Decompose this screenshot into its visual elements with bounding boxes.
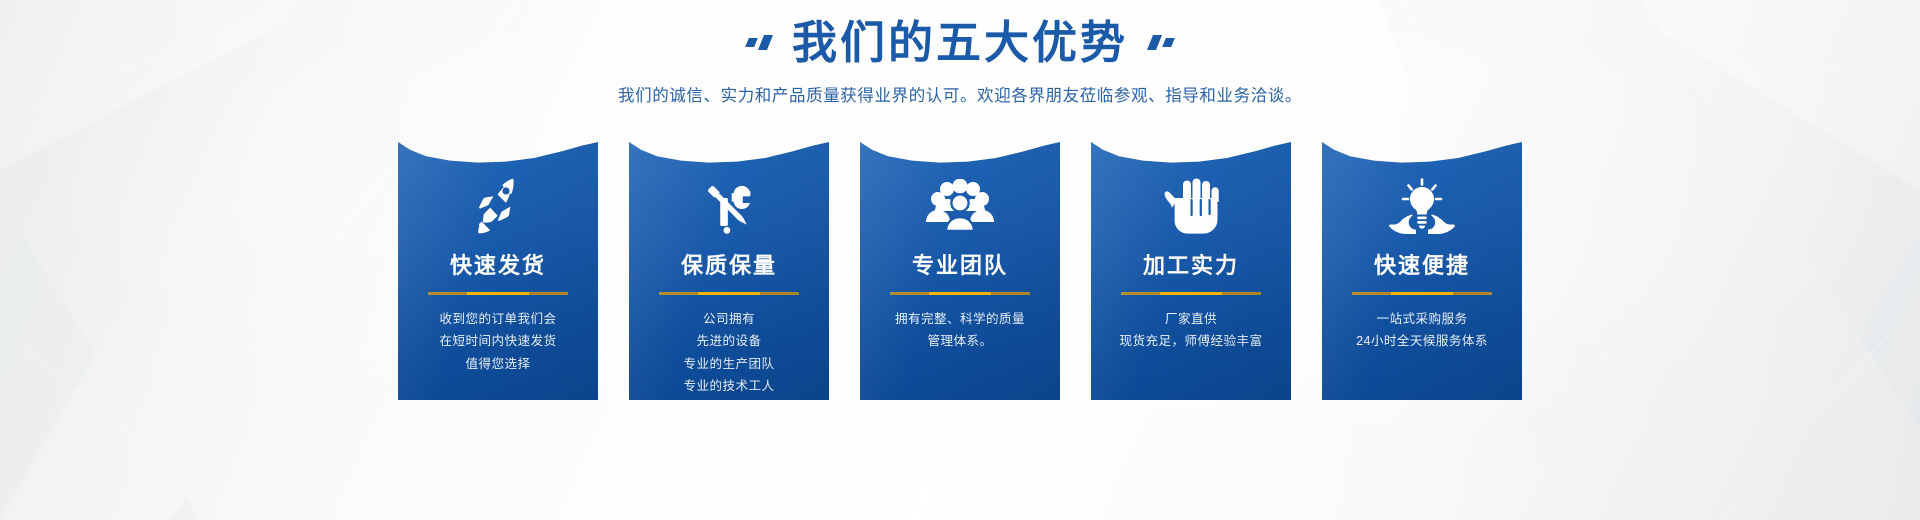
card-desc-line: 在短时间内快速发货 <box>440 330 557 352</box>
team-people-icon <box>925 176 995 238</box>
section-header: 我们的五大优势 我们的诚信、实力和产品质量获得业界的认可。欢迎各界朋友莅临参观、… <box>0 0 1920 106</box>
card-desc-line: 专业的生产团队 <box>684 353 775 375</box>
card-desc-line: 现货充足，师傅经验丰富 <box>1120 330 1263 352</box>
card-desc-line: 专业的技术工人 <box>684 375 775 397</box>
slash-ornament-left-icon <box>747 35 770 50</box>
card-title: 加工实力 <box>1143 248 1239 280</box>
hands-lightbulb-icon <box>1388 176 1456 238</box>
card-desc-line: 一站式采购服务 <box>1356 308 1488 330</box>
card-description: 公司拥有 先进的设备 专业的生产团队 专业的技术工人 <box>684 308 775 398</box>
card-desc-line: 收到您的订单我们会 <box>440 308 557 330</box>
advantage-card[interactable]: 快速发货 收到您的订单我们会 在短时间内快速发货 值得您选择 <box>398 142 598 400</box>
card-divider <box>428 292 568 295</box>
wrench-screwdriver-icon <box>698 176 760 238</box>
card-divider <box>890 292 1030 295</box>
card-divider <box>1121 292 1261 295</box>
card-desc-line: 拥有完整、科学的质量 <box>895 308 1025 330</box>
card-title: 快速便捷 <box>1374 248 1470 280</box>
title-row: 我们的五大优势 <box>0 18 1920 68</box>
card-desc-line: 厂家直供 <box>1120 308 1263 330</box>
card-desc-line: 公司拥有 <box>684 308 775 330</box>
page-title: 我们的五大优势 <box>792 18 1128 68</box>
advantages-banner: 我们的五大优势 我们的诚信、实力和产品质量获得业界的认可。欢迎各界朋友莅临参观、… <box>0 0 1920 520</box>
card-desc-line: 值得您选择 <box>440 353 557 375</box>
section-subtitle: 我们的诚信、实力和产品质量获得业界的认可。欢迎各界朋友莅临参观、指导和业务洽谈。 <box>0 82 1920 106</box>
card-desc-line: 先进的设备 <box>684 330 775 352</box>
card-description: 拥有完整、科学的质量 管理体系。 <box>895 308 1025 353</box>
card-desc-line: 管理体系。 <box>895 330 1025 352</box>
advantage-card[interactable]: 专业团队 拥有完整、科学的质量 管理体系。 <box>860 142 1060 400</box>
rocket-icon <box>466 176 530 238</box>
card-description: 厂家直供 现货充足，师傅经验丰富 <box>1120 308 1263 353</box>
card-title: 保质保量 <box>681 248 777 280</box>
advantage-card[interactable]: 保质保量 公司拥有 先进的设备 专业的生产团队 专业的技术工人 <box>629 142 829 400</box>
advantage-card-list: 快速发货 收到您的订单我们会 在短时间内快速发货 值得您选择 <box>0 142 1920 400</box>
slash-ornament-right-icon <box>1150 35 1173 50</box>
card-title: 专业团队 <box>912 248 1008 280</box>
advantage-card[interactable]: 快速便捷 一站式采购服务 24小时全天候服务体系 <box>1322 142 1522 400</box>
card-description: 一站式采购服务 24小时全天候服务体系 <box>1356 308 1488 353</box>
card-description: 收到您的订单我们会 在短时间内快速发货 值得您选择 <box>440 308 557 375</box>
fist-hand-icon <box>1163 176 1219 238</box>
card-title: 快速发货 <box>450 248 546 280</box>
card-divider <box>659 292 799 295</box>
card-desc-line: 24小时全天候服务体系 <box>1356 330 1488 352</box>
advantage-card[interactable]: 加工实力 厂家直供 现货充足，师傅经验丰富 <box>1091 142 1291 400</box>
card-divider <box>1352 292 1492 295</box>
